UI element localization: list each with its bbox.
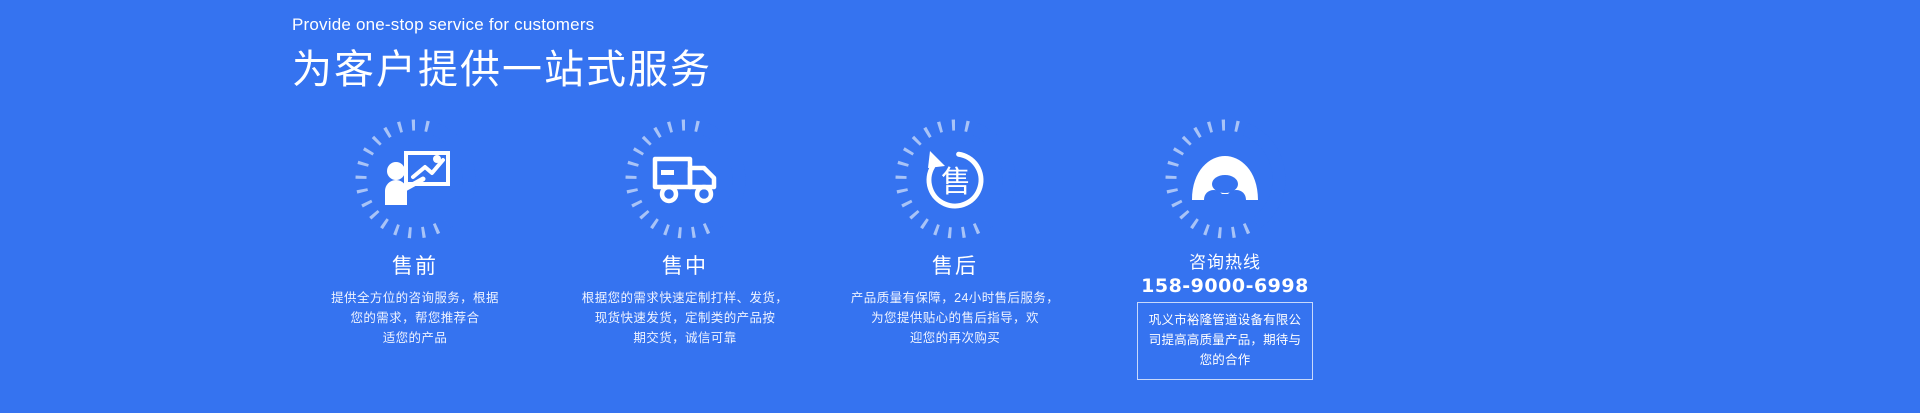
service-section: Provide one-stop service for customers 为… — [0, 0, 1920, 413]
card-description-line: 提供全方位的咨询服务，根据 — [331, 288, 499, 308]
card-description-line: 为您提供贴心的售后指导，欢 — [851, 308, 1059, 328]
heading-block: Provide one-stop service for customers 为… — [292, 14, 1192, 96]
card-description: 提供全方位的咨询服务，根据 您的需求，帮您推荐合 适您的产品 — [331, 288, 499, 348]
card-description-line: 适您的产品 — [331, 328, 499, 348]
hotline-label: 咨询热线 — [1189, 252, 1261, 273]
card-description: 根据您的需求快速定制打样、发货， 现货快速发货，定制类的产品按 期交货，诚信可靠 — [582, 288, 788, 348]
service-card-aftersale[interactable]: 售 售后 产品质量有保障，24小时售后服务， 为您提供贴心的售后指导，欢 迎您的… — [820, 116, 1090, 348]
service-card-presale[interactable]: 售前 提供全方位的咨询服务，根据 您的需求，帮您推荐合 适您的产品 — [280, 116, 550, 348]
service-card-list: 售前 提供全方位的咨询服务，根据 您的需求，帮您推荐合 适您的产品 — [280, 116, 1360, 380]
card-description: 产品质量有保障，24小时售后服务， 为您提供贴心的售后指导，欢 迎您的再次购买 — [851, 288, 1059, 348]
presentation-board-icon — [378, 142, 452, 216]
card-description-line: 产品质量有保障，24小时售后服务， — [851, 288, 1059, 308]
company-info-box: 巩义市裕隆管道设备有限公 司提高高质量产品，期待与 您的合作 — [1137, 302, 1313, 380]
service-card-hotline[interactable]: 咨询热线 158-9000-6998 巩义市裕隆管道设备有限公 司提高高质量产品… — [1090, 116, 1360, 380]
delivery-truck-icon — [648, 142, 722, 216]
after-sale-refresh-icon: 售 — [918, 142, 992, 216]
telephone-icon — [1188, 142, 1262, 216]
company-info-line: 巩义市裕隆管道设备有限公 — [1148, 310, 1302, 330]
card-description-line: 期交货，诚信可靠 — [582, 328, 788, 348]
card-description-line: 现货快速发货，定制类的产品按 — [582, 308, 788, 328]
card-title: 售前 — [392, 254, 438, 280]
icon-ring-insale — [622, 116, 748, 242]
card-title: 售中 — [662, 254, 708, 280]
service-card-insale[interactable]: 售中 根据您的需求快速定制打样、发货， 现货快速发货，定制类的产品按 期交货，诚… — [550, 116, 820, 348]
card-description-line: 根据您的需求快速定制打样、发货， — [582, 288, 788, 308]
section-eyebrow: Provide one-stop service for customers — [292, 14, 1192, 36]
card-title: 售后 — [932, 254, 978, 280]
card-description-line: 迎您的再次购买 — [851, 328, 1059, 348]
company-info-line: 司提高高质量产品，期待与 — [1148, 330, 1302, 350]
icon-ring-hotline — [1162, 116, 1288, 242]
page-title: 为客户提供一站式服务 — [292, 44, 1192, 96]
icon-ring-aftersale: 售 — [892, 116, 1018, 242]
hotline-number[interactable]: 158-9000-6998 — [1141, 274, 1309, 298]
icon-ring-presale — [352, 116, 478, 242]
company-info-line: 您的合作 — [1148, 350, 1302, 370]
svg-text:售: 售 — [941, 166, 971, 199]
card-description-line: 您的需求，帮您推荐合 — [331, 308, 499, 328]
